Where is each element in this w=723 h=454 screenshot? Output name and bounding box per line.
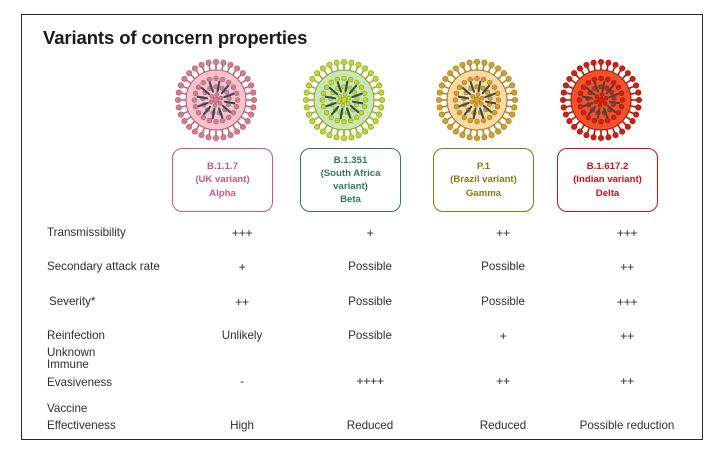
cell-transmissibility-delta: +++ — [617, 226, 638, 240]
variant-box-alpha[interactable]: B.1.1.7 (UK variant) Alpha — [172, 148, 273, 212]
row-label-vaccine: Vaccine — [47, 402, 87, 416]
variant-origin: (Brazil variant) — [450, 173, 517, 186]
variant-lineage: B.1.617.2 — [587, 160, 629, 173]
variant-origin: (UK variant) — [195, 173, 249, 186]
row-label-secondary-attack-rate: Secondary attack rate — [47, 260, 160, 274]
variant-greek-name: Gamma — [466, 187, 501, 200]
variant-greek-name: Alpha — [209, 187, 236, 200]
cell-reinfection-beta: Possible — [348, 329, 392, 342]
row-label-severity: Severity* — [49, 295, 95, 309]
cell-immune-evasiveness-gamma: ++ — [496, 374, 510, 388]
cell-severity-gamma: Possible — [481, 295, 525, 308]
cell-vaccine-effectiveness-gamma: Reduced — [480, 419, 526, 432]
variant-box-beta[interactable]: B.1.351 (South Africa variant) Beta — [300, 148, 401, 212]
cell-transmissibility-gamma: ++ — [496, 226, 510, 240]
cell-immune-evasiveness-alpha: - — [240, 374, 244, 388]
variant-lineage: B.1.1.7 — [207, 160, 238, 173]
cell-immune-evasiveness-beta: ++++ — [356, 374, 383, 388]
cell-vaccine-effectiveness-beta: Reduced — [347, 419, 393, 432]
virus-icon-beta — [297, 53, 391, 147]
cell-vaccine-effectiveness-delta: Possible reduction — [580, 419, 675, 432]
row-label-immune: Immune — [47, 358, 89, 372]
cell-severity-beta: Possible — [348, 295, 392, 308]
cell-reinfection-delta: ++ — [620, 329, 634, 343]
cell-secondary-attack-rate-beta: Possible — [348, 260, 392, 273]
cell-secondary-attack-rate-gamma: Possible — [481, 260, 525, 273]
variant-origin: (South Africa — [321, 167, 381, 180]
page-title: Variants of concern properties — [43, 27, 307, 49]
row-label-transmissibility: Transmissibility — [47, 226, 126, 240]
cell-severity-alpha: ++ — [235, 295, 249, 309]
variant-greek-name: Beta — [340, 193, 361, 206]
cell-secondary-attack-rate-alpha: + — [239, 260, 246, 274]
virus-icon-gamma — [430, 53, 524, 147]
cell-immune-evasiveness-delta: ++ — [620, 374, 634, 388]
row-label-reinfection: Reinfection — [47, 329, 105, 343]
figure-panel: Variants of concern properties B.1.1.7 (… — [21, 14, 703, 440]
cell-reinfection-alpha: Unlikely — [222, 329, 263, 342]
variant-origin-2: variant) — [333, 180, 368, 193]
cell-secondary-attack-rate-delta: ++ — [620, 260, 634, 274]
cell-severity-delta: +++ — [617, 295, 638, 309]
row-label-evasiveness: Evasiveness — [47, 376, 112, 390]
variant-box-delta[interactable]: B.1.617.2 (Indian variant) Delta — [557, 148, 658, 212]
variant-greek-name: Delta — [596, 187, 619, 200]
variant-lineage: B.1.351 — [334, 154, 368, 167]
cell-vaccine-effectiveness-alpha: High — [230, 419, 254, 432]
cell-reinfection-gamma: + — [500, 329, 507, 343]
virus-icon-delta — [554, 53, 648, 147]
variant-lineage: P.1 — [477, 160, 490, 173]
row-label-effectiveness: Effectiveness — [47, 419, 116, 433]
variant-box-gamma[interactable]: P.1 (Brazil variant) Gamma — [433, 148, 534, 212]
cell-transmissibility-beta: + — [367, 226, 374, 240]
cell-transmissibility-alpha: +++ — [232, 226, 253, 240]
variant-origin: (Indian variant) — [573, 173, 642, 186]
virus-icon-alpha — [169, 53, 263, 147]
